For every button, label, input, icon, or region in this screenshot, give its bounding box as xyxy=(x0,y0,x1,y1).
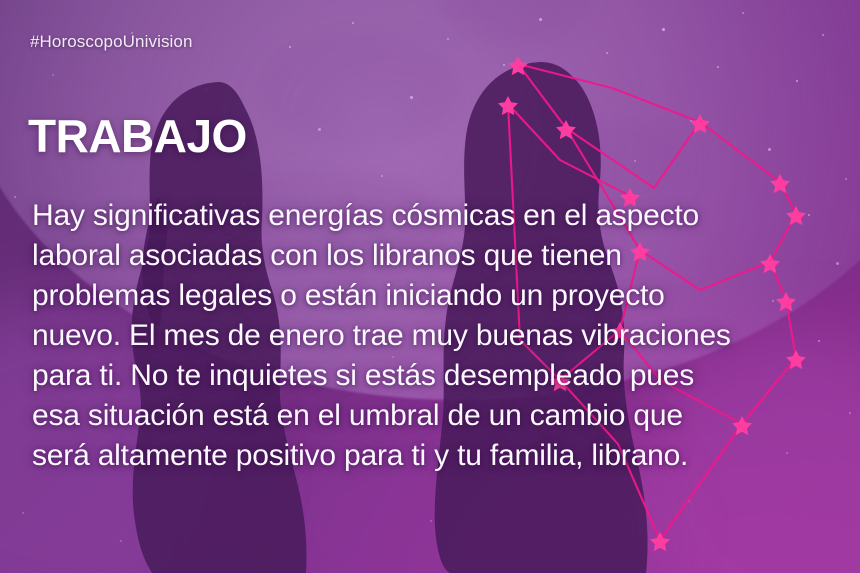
body-text-line: problemas legales o están iniciando un p… xyxy=(32,276,822,316)
horoscope-card: #HoroscopoUnivision TRABAJO Hay signific… xyxy=(0,0,860,573)
page-title: TRABAJO xyxy=(28,113,247,159)
horoscope-body-text: Hay significativas energías cósmicas en … xyxy=(32,196,822,476)
body-text-line: para ti. No te inquietes si estás desemp… xyxy=(32,356,822,396)
body-text-line: será altamente positivo para ti y tu fam… xyxy=(32,436,822,476)
body-text-line: esa situación está en el umbral de un ca… xyxy=(32,396,822,436)
body-text-line: laboral asociadas con los libranos que t… xyxy=(32,236,822,276)
hashtag-label: #HoroscopoUnivision xyxy=(30,32,193,52)
body-text-line: Hay significativas energías cósmicas en … xyxy=(32,196,822,236)
body-text-line: nuevo. El mes de enero trae muy buenas v… xyxy=(32,316,822,356)
